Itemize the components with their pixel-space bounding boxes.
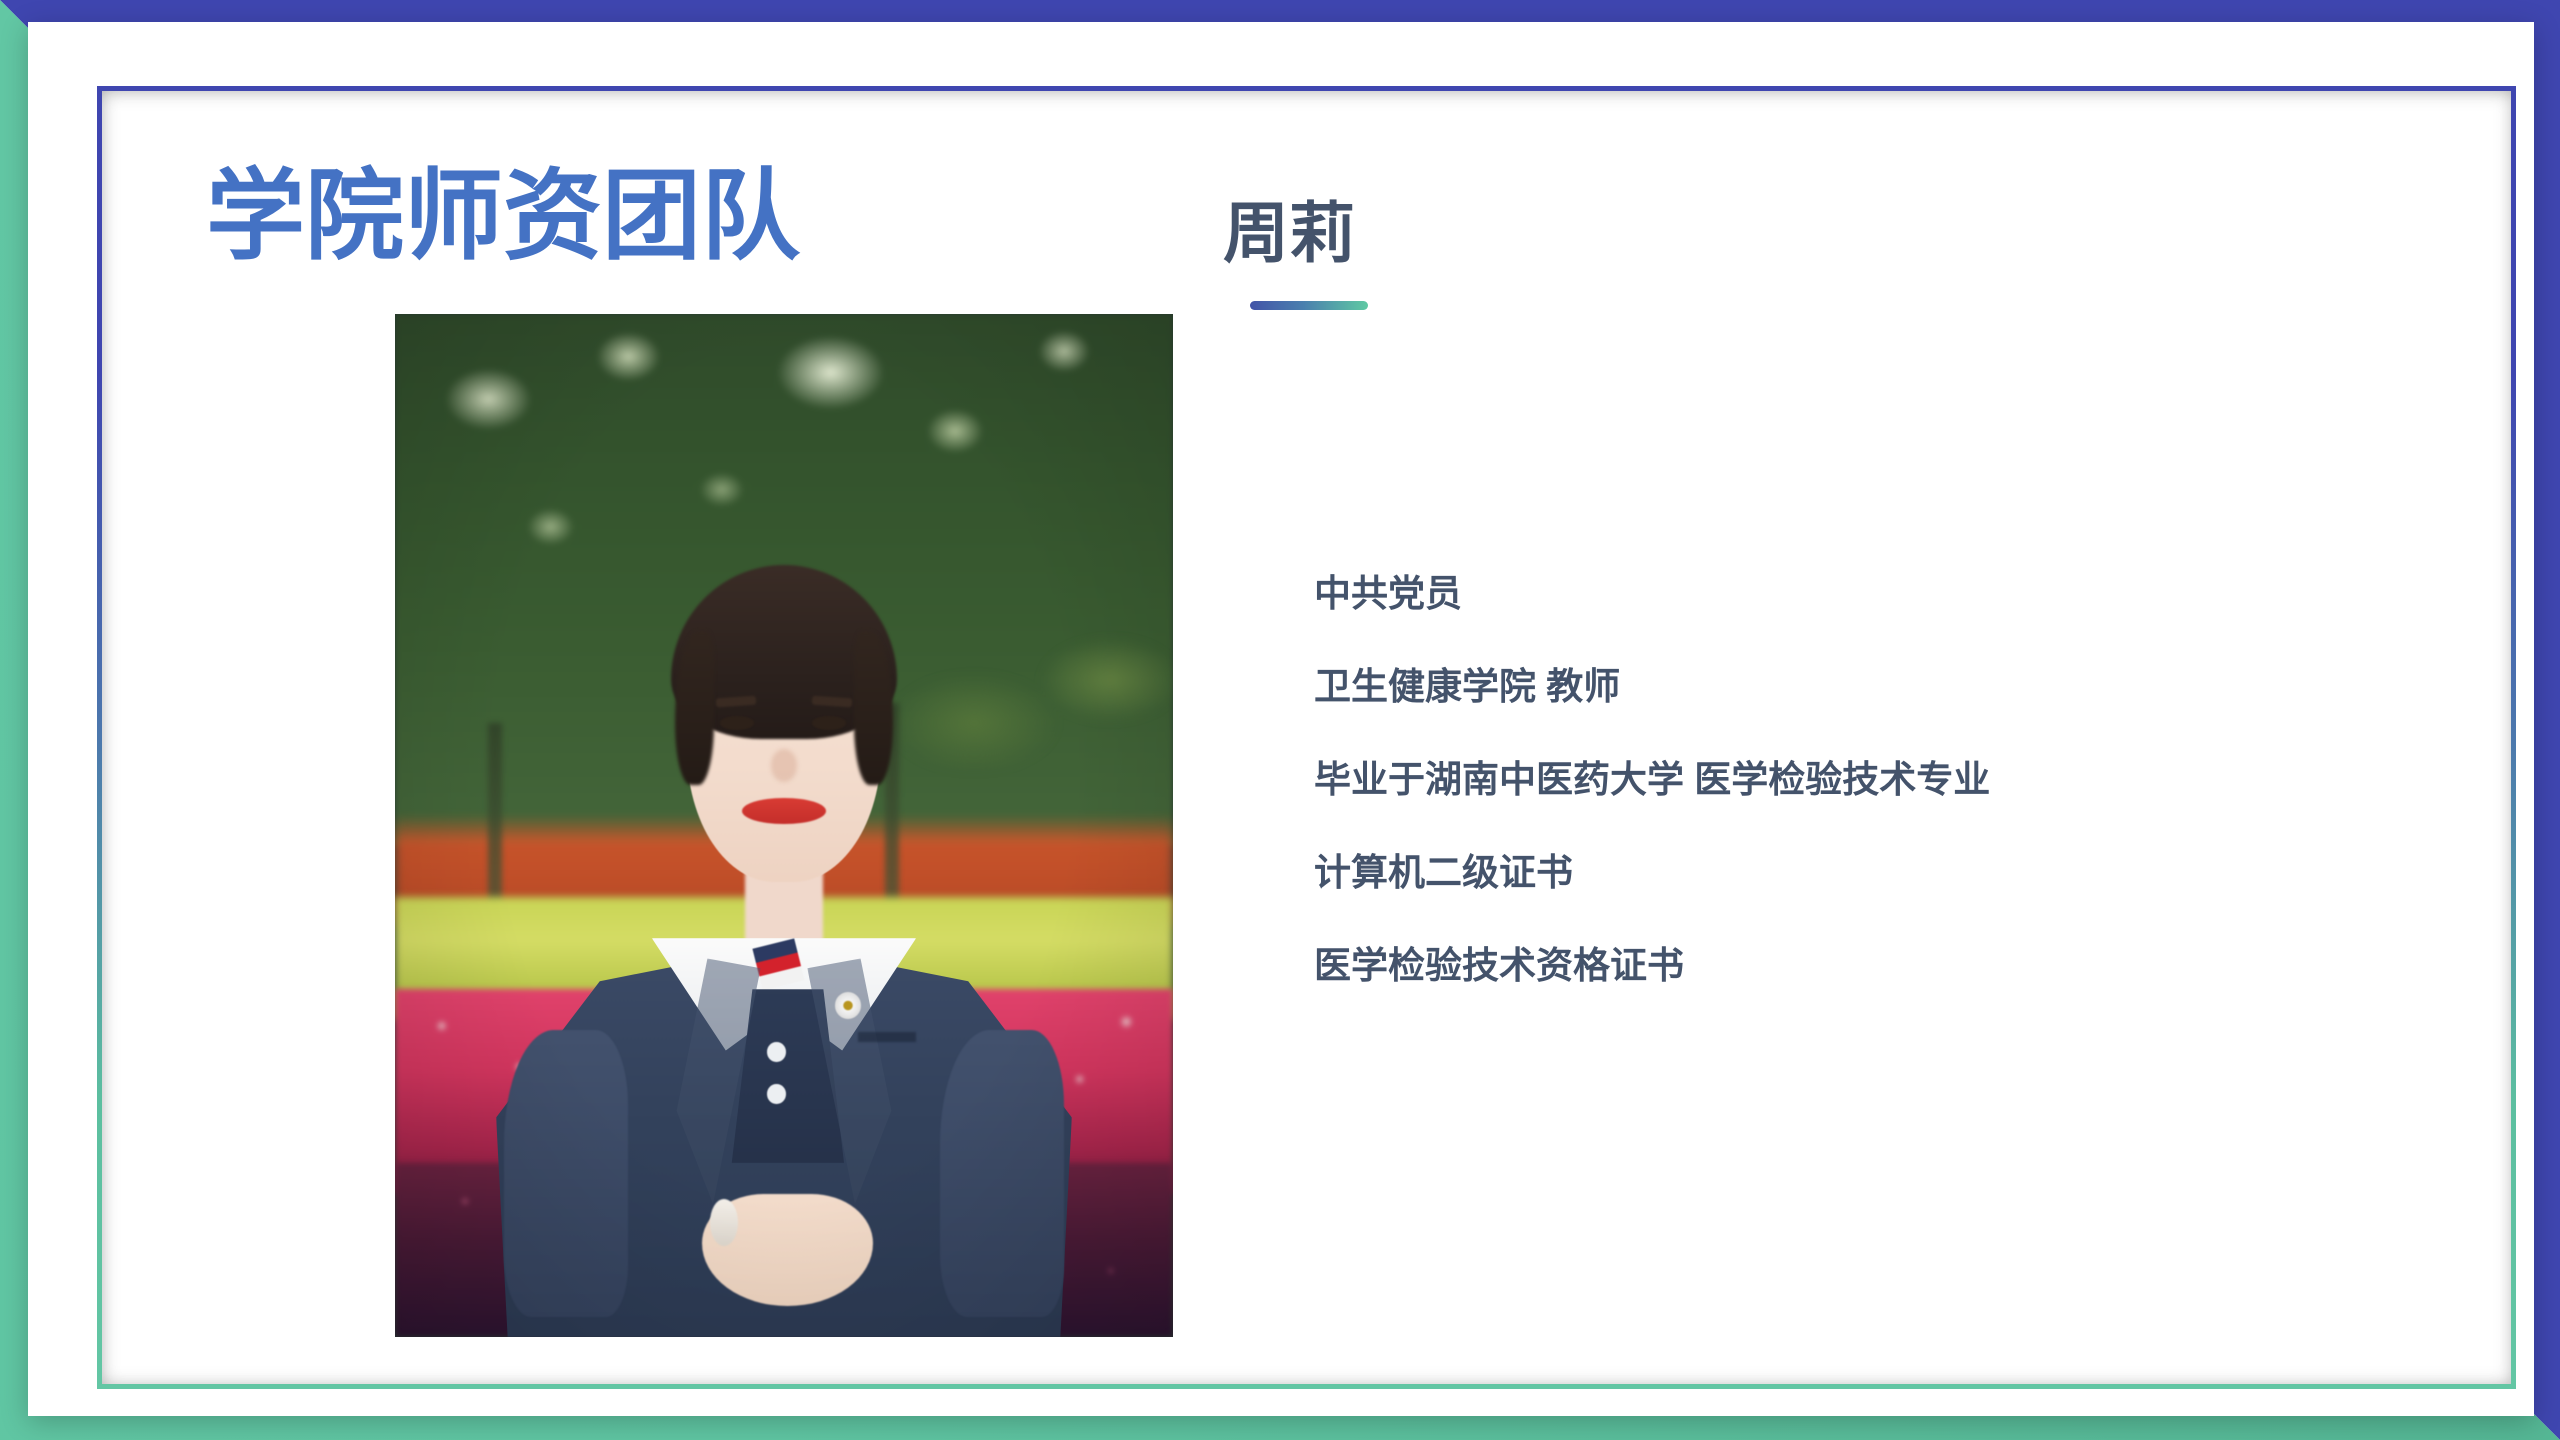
bio-list: 中共党员 卫生健康学院 教师 毕业于湖南中医药大学 医学检验技术专业 计算机二级… bbox=[1314, 547, 2374, 1012]
name-underline-rule bbox=[1250, 301, 1368, 310]
bio-line: 卫生健康学院 教师 bbox=[1314, 640, 2374, 733]
bio-line: 计算机二级证书 bbox=[1314, 826, 2374, 919]
bio-line: 毕业于湖南中医药大学 医学检验技术专业 bbox=[1314, 733, 2374, 826]
bio-line: 医学检验技术资格证书 bbox=[1314, 919, 2374, 1012]
photo-canvas bbox=[395, 314, 1173, 1337]
photo-vignette bbox=[395, 314, 1173, 1337]
bio-line: 中共党员 bbox=[1314, 547, 2374, 640]
slide-card: 学院师资团队 bbox=[28, 22, 2534, 1416]
person-name: 周莉 bbox=[1223, 197, 1355, 270]
page-title: 学院师资团队 bbox=[206, 161, 800, 272]
presentation-slide: 学院师资团队 bbox=[0, 0, 2560, 1440]
portrait-photo bbox=[395, 314, 1173, 1337]
